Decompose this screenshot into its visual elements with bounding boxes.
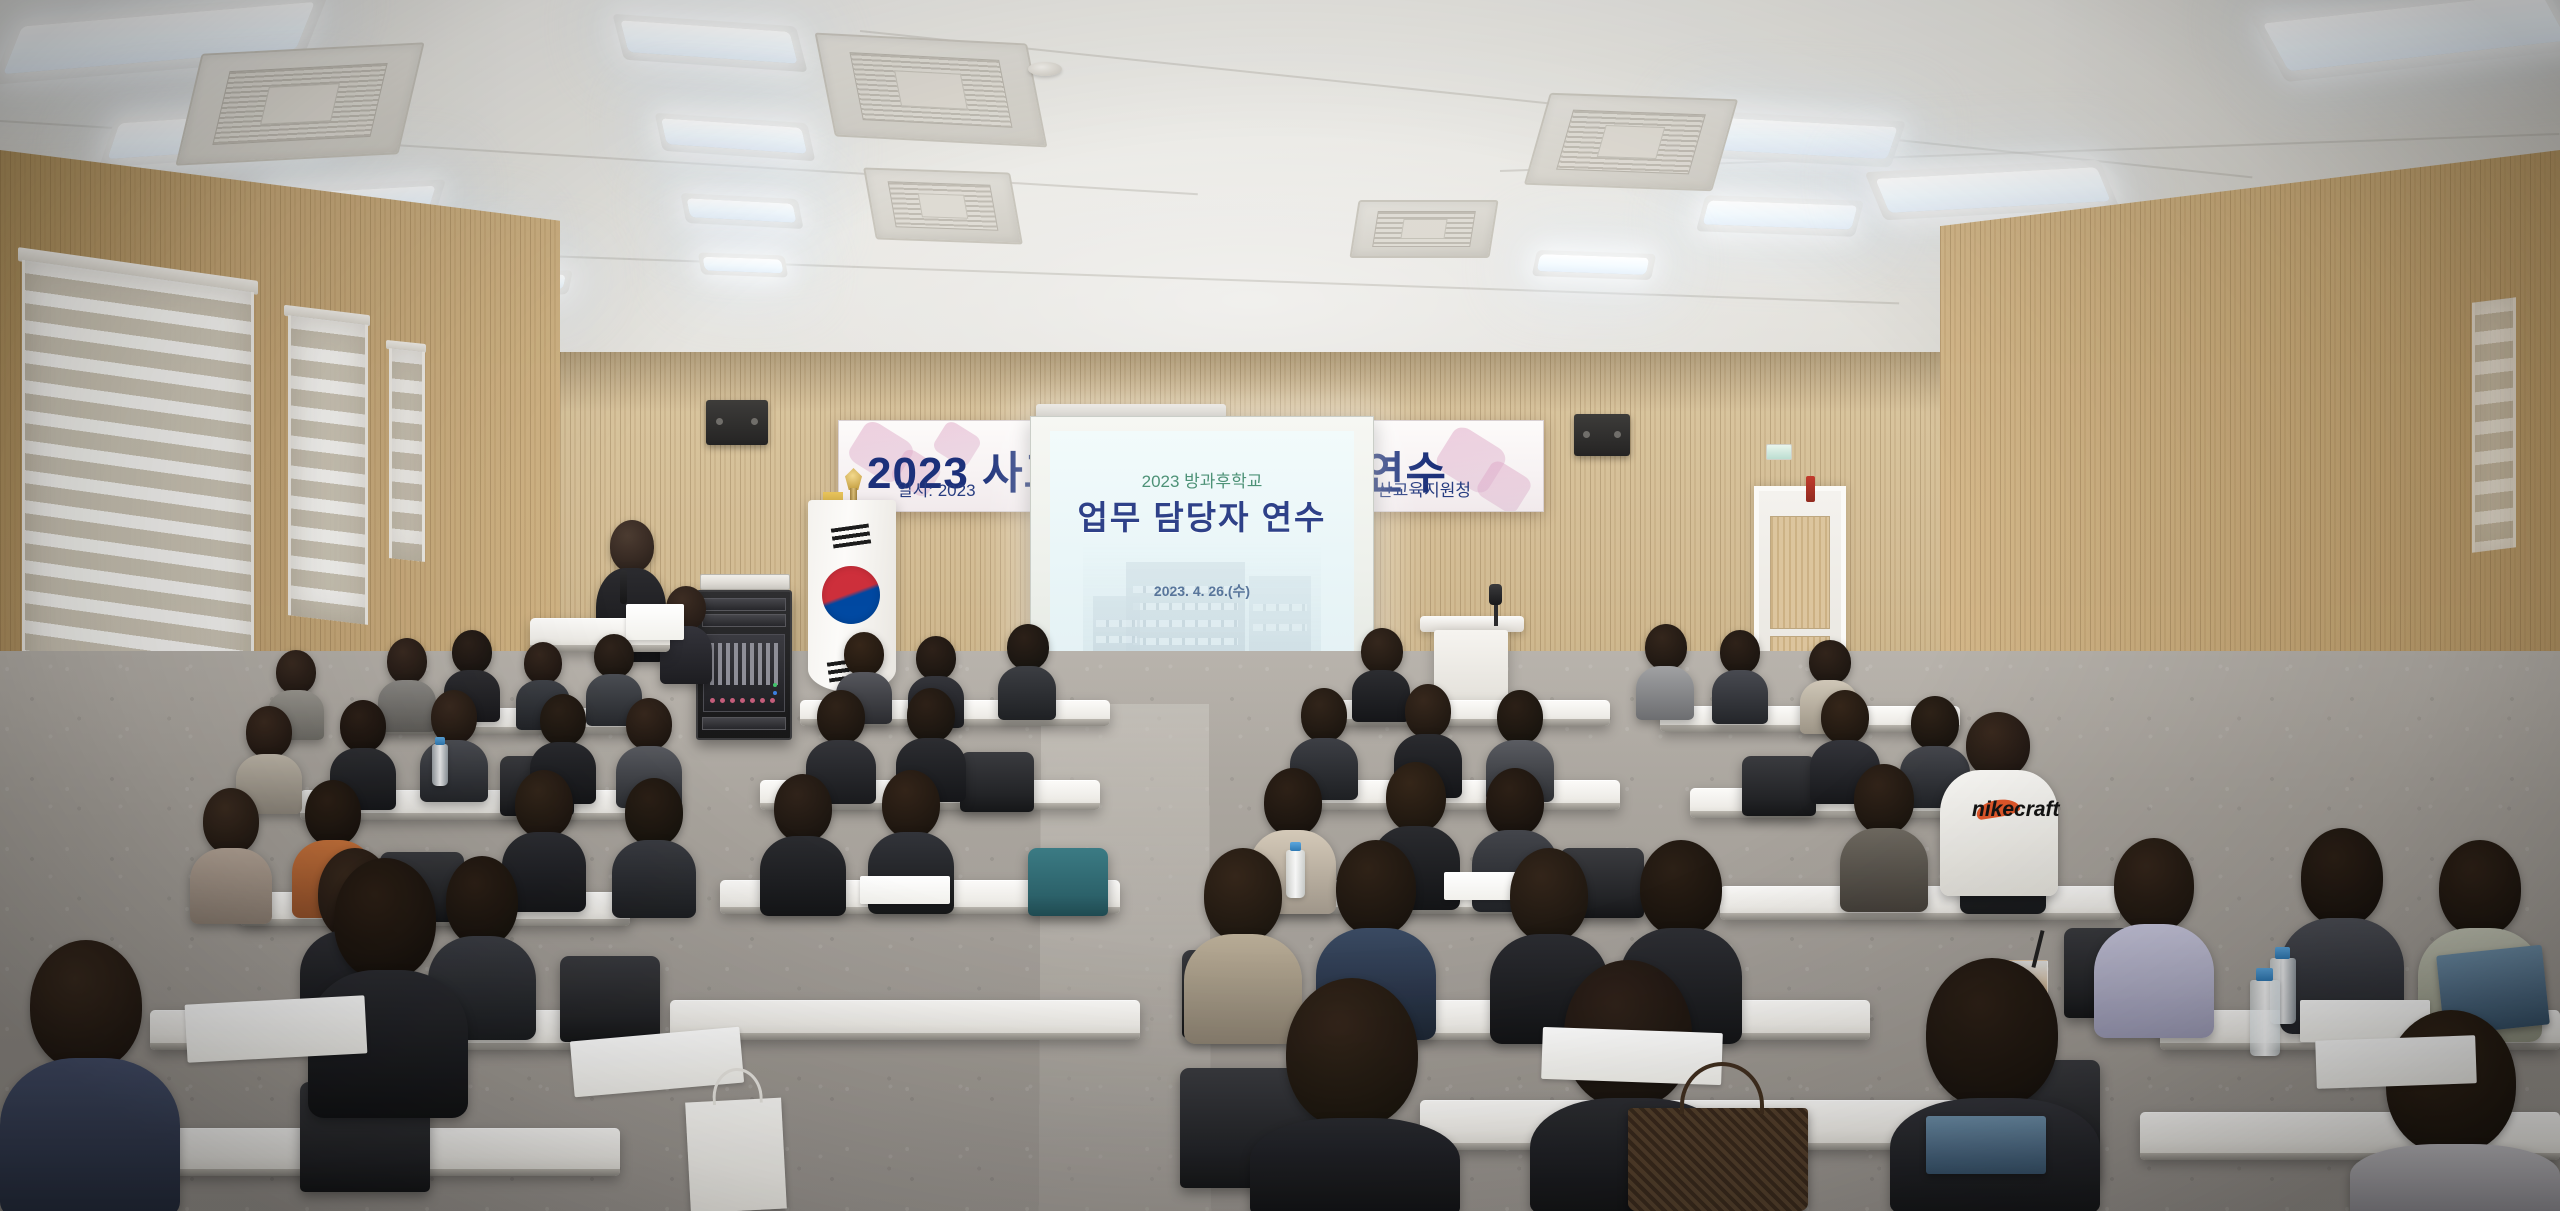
- window-blind[interactable]: [389, 348, 425, 562]
- fire-alarm-icon: [1806, 476, 1815, 502]
- nikecraft-logo-text: nikecraft: [1972, 798, 2060, 822]
- wall-speaker-left: [706, 400, 768, 445]
- tablet-device[interactable]: [1926, 1116, 2046, 1174]
- slide-title: 업무 담당자 연수: [1050, 491, 1354, 539]
- attendee: [1636, 624, 1694, 712]
- attendee: [2094, 838, 2214, 1030]
- attendee-foreground: [1250, 978, 1460, 1211]
- attendee: [1840, 764, 1928, 904]
- wall-speaker-right: [1574, 414, 1630, 456]
- presenter-head: [610, 520, 654, 572]
- woven-basket-bag[interactable]: [1628, 1108, 1808, 1211]
- podium-microphone: [1489, 584, 1502, 605]
- presentation-slide: 2023 방과후학교 업무 담당자 연수 2023. 4. 26: [1050, 431, 1354, 674]
- banner-organization: 산교육지원청: [1377, 476, 1471, 501]
- window-blind[interactable]: [288, 315, 368, 625]
- water-bottle[interactable]: [432, 744, 448, 786]
- attendee: [998, 624, 1056, 712]
- attendee: [420, 690, 488, 796]
- projection-screen: 2023 방과후학교 업무 담당자 연수 2023. 4. 26: [1030, 416, 1374, 688]
- slide-date: 2023. 4. 26.(수): [1050, 581, 1354, 601]
- hvac-diffuser: [175, 42, 424, 165]
- chair[interactable]: [1742, 756, 1816, 816]
- hvac-diffuser: [1524, 93, 1738, 192]
- handout-paper[interactable]: [860, 876, 950, 904]
- hvac-diffuser: [815, 33, 1048, 148]
- av-equipment-top: [700, 574, 790, 590]
- slide-kicker: 2023 방과후학교: [1050, 467, 1354, 492]
- banner-subtitle: 일시: 2023: [897, 476, 976, 501]
- attendee-foreground: [0, 940, 180, 1210]
- handout-paper[interactable]: [185, 995, 368, 1062]
- attendee: [612, 778, 696, 910]
- seminar-room-photo: 2023 사교 활성화 연수 일시: 2023 산교육지원청 2023 방과후학…: [0, 0, 2560, 1211]
- chair-accent[interactable]: [1028, 848, 1108, 916]
- window-blind[interactable]: [22, 260, 254, 713]
- handheld-microphone: [620, 570, 627, 604]
- attendee: [1712, 630, 1768, 716]
- attendee: [760, 774, 846, 908]
- hvac-diffuser: [863, 167, 1023, 244]
- desk-row4: [670, 1000, 1140, 1040]
- attendee: [190, 788, 272, 916]
- hvac-diffuser: [1349, 200, 1498, 258]
- chair[interactable]: [960, 752, 1034, 812]
- handout-paper[interactable]: [2315, 1035, 2477, 1089]
- ceiling-light: [1702, 200, 1857, 229]
- smoke-detector-icon: [1028, 62, 1062, 76]
- water-bottle[interactable]: [2250, 980, 2280, 1056]
- ceiling-light: [702, 257, 783, 274]
- paper-tote-bag[interactable]: [685, 1098, 787, 1211]
- attendee: [2280, 828, 2404, 1026]
- chair[interactable]: [560, 956, 660, 1042]
- window-blind[interactable]: [2472, 297, 2516, 552]
- attendee-foreground: [308, 858, 468, 1108]
- exit-sign: [1766, 444, 1792, 460]
